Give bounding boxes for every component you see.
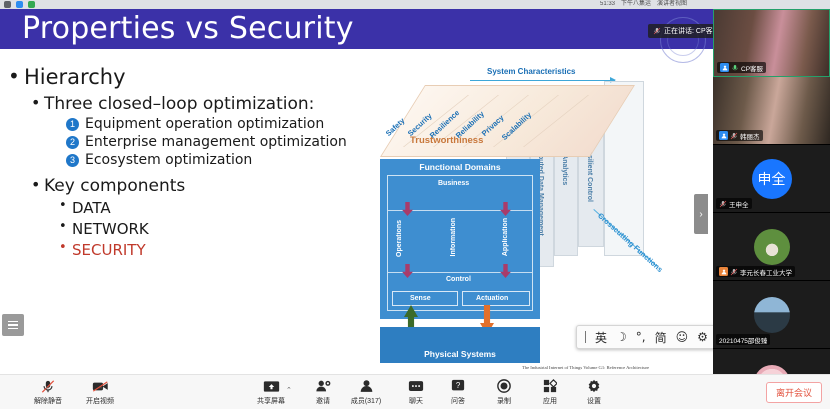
favicon-group (4, 1, 35, 8)
toolbar-participants-button[interactable]: 成员(317) (340, 378, 392, 406)
toolbar-label-unmute: 解除静音 (22, 396, 74, 406)
number-badge-2: 2 (66, 136, 79, 149)
component-network: NETWORK (72, 220, 374, 238)
speaking-label: 正在讲话: CP客服 (664, 26, 713, 36)
physical-systems-box: Physical Systems (380, 327, 540, 363)
trustworthiness-label: Trustworthiness (410, 135, 483, 146)
system-characteristics-arrow (470, 80, 615, 81)
ime-language-toggle[interactable]: 英 (595, 329, 607, 346)
shared-slide-stage: Properties vs Security Hierarchy Three c… (0, 9, 713, 374)
leave-meeting-button[interactable]: 离开会议 (766, 382, 822, 403)
participant-tile-2[interactable]: 申全 王申全 (713, 145, 830, 213)
numbered-item-3: 3 Ecosystem optimization (66, 152, 374, 168)
mic-muted-icon-2 (719, 200, 727, 208)
numbered-item-1: 1 Equipment operation optimization (66, 116, 374, 132)
char-tick-5 (523, 95, 589, 147)
participant-avatar-3 (754, 229, 790, 265)
bullet-three-loop: Three closed–loop optimization: (44, 94, 374, 114)
name-tag-3: 李元长春工业大学 (716, 266, 795, 277)
participant-name-2: 王申全 (729, 199, 749, 209)
browser-tabs[interactable]: 51:33 下午八集运 演讲者视图 (0, 0, 830, 9)
toolbar-record-button[interactable]: 录制 (478, 378, 530, 406)
name-tag-2: 王申全 (716, 198, 752, 209)
participant-video-rail[interactable]: CP客服 韩丽杰 申全 (713, 9, 830, 374)
video-chevron-up-icon[interactable]: ⌃ (98, 386, 104, 394)
participant-badge-icon-0 (720, 63, 729, 72)
favicon-2 (16, 1, 23, 8)
down-arrow-left-top (402, 202, 413, 216)
domain-label-application: Application (502, 218, 509, 256)
browser-tab-1[interactable]: 下午八集运 (621, 0, 651, 9)
speaking-indicator: 正在讲话: CP客服 (648, 24, 713, 38)
svg-text:?: ? (456, 381, 461, 390)
toolbar-label-participants: 成员(317) (340, 396, 392, 406)
numbered-item-2: 2 Enterprise management optimization (66, 134, 374, 150)
component-data: DATA (72, 199, 374, 217)
name-tag-1: 韩丽杰 (716, 130, 763, 141)
number-badge-3: 3 (66, 154, 79, 167)
slide-title-band: Properties vs Security (0, 9, 713, 49)
hamburger-line-1 (8, 321, 18, 323)
name-tag-0: CP客服 (717, 62, 766, 73)
menu-hamburger-icon[interactable] (2, 314, 24, 336)
ime-punctuation-icon[interactable]: °, (636, 330, 646, 344)
meeting-screen-share-window: 51:33 下午八集运 演讲者视图 Properties vs Security… (0, 0, 830, 409)
participant-tile-1[interactable]: 韩丽杰 (713, 77, 830, 145)
browser-tab-2[interactable]: 演讲者视图 (657, 0, 687, 9)
bullet-key-components: Key components (44, 176, 374, 196)
toolbar-label-share-screen: 共享屏幕 (245, 396, 297, 406)
hamburger-line-3 (8, 328, 18, 330)
down-arrow-right-bottom (500, 264, 511, 278)
participant-initials-2: 申全 (752, 159, 792, 199)
collapse-panel-chevron-icon[interactable]: › (694, 194, 708, 234)
down-arrow-left-bottom (402, 264, 413, 278)
participant-tile-3[interactable]: 李元长春工业大学 (713, 213, 830, 281)
component-security: SECURITY (72, 241, 374, 259)
domain-label-control: Control (446, 276, 471, 283)
hamburger-line-2 (8, 324, 18, 326)
number-badge-1: 1 (66, 118, 79, 131)
record-icon (478, 378, 530, 394)
mic-muted-icon (653, 27, 661, 35)
ime-cursor-icon (585, 331, 586, 343)
toolbar-label-record: 录制 (478, 396, 530, 406)
ime-simplified-toggle[interactable]: 简 (655, 329, 667, 346)
favicon-3 (28, 1, 35, 8)
participant-name-0: CP客服 (741, 63, 763, 73)
diagram-caption: The Industrial Internet of Things Volume… (522, 365, 649, 370)
participant-name-4: 20210475邵俊臻 (719, 335, 767, 345)
participant-avatar-4 (754, 297, 790, 333)
down-arrow-right-top (500, 202, 511, 216)
domain-label-business: Business (438, 180, 469, 187)
physical-systems-label: Physical Systems (380, 349, 540, 359)
functional-domains-box: Functional Domains Business Operations I… (380, 159, 540, 319)
browser-tab-0[interactable]: 51:33 (600, 0, 615, 9)
mic-icon-0 (731, 64, 739, 72)
unmute-chevron-up-icon[interactable]: ⌃ (44, 386, 50, 394)
slide-bullet-list: Hierarchy Three closed–loop optimization… (14, 65, 374, 261)
toolbar-label-start-video: 开启视频 (74, 396, 126, 406)
participant-badge-icon-1 (719, 131, 728, 140)
functional-domains-title: Functional Domains (380, 162, 540, 172)
toolbar-qa-button[interactable]: ? 问答 (432, 378, 484, 406)
participant-tile-0[interactable]: CP客服 (713, 9, 830, 77)
participant-badge-icon-3 (719, 267, 728, 276)
system-characteristics-label: System Characteristics (487, 67, 576, 76)
ime-moon-icon[interactable]: ☽ (616, 330, 627, 344)
qa-icon: ? (432, 378, 484, 394)
domain-label-operations: Operations (396, 220, 403, 257)
domain-label-sense: Sense (410, 295, 431, 302)
meeting-toolbar[interactable]: 解除静音 ⌃ 开启视频 ⌃ 共享屏幕 ⌃ (0, 374, 830, 409)
page-title: Properties vs Security (22, 11, 354, 46)
bullet-hierarchy: Hierarchy (14, 65, 374, 89)
numbered-label-2: Enterprise management optimization (85, 134, 347, 150)
participant-name-1: 韩丽杰 (740, 131, 760, 141)
mic-muted-icon-3 (730, 268, 738, 276)
ime-settings-gear-icon[interactable]: ⚙ (697, 330, 708, 344)
gear-icon (568, 378, 620, 394)
toolbar-label-qa: 问答 (432, 396, 484, 406)
share-chevron-up-icon[interactable]: ⌃ (286, 386, 292, 394)
browser-chrome-strip: 51:33 下午八集运 演讲者视图 (0, 0, 830, 9)
toolbar-settings-button[interactable]: 设置 (568, 378, 620, 406)
input-method-bar[interactable]: 英 ☽ °, 简 ☺ ⚙ (576, 325, 713, 349)
functional-domains-grid: Business Operations Information Applicat… (387, 175, 533, 311)
participant-name-3: 李元长春工业大学 (740, 267, 792, 277)
numbered-label-3: Ecosystem optimization (85, 152, 252, 168)
mic-muted-icon-1 (730, 132, 738, 140)
ime-emoji-icon[interactable]: ☺ (676, 330, 689, 344)
favicon-1 (4, 1, 11, 8)
domain-label-information: Information (450, 218, 457, 257)
name-tag-4: 20210475邵俊臻 (716, 334, 770, 345)
toolbar-label-settings: 设置 (568, 396, 620, 406)
domain-label-actuation: Actuation (476, 295, 508, 302)
participants-icon (340, 378, 392, 394)
numbered-label-1: Equipment operation optimization (85, 116, 324, 132)
participant-tile-4[interactable]: 20210475邵俊臻 (713, 281, 830, 349)
